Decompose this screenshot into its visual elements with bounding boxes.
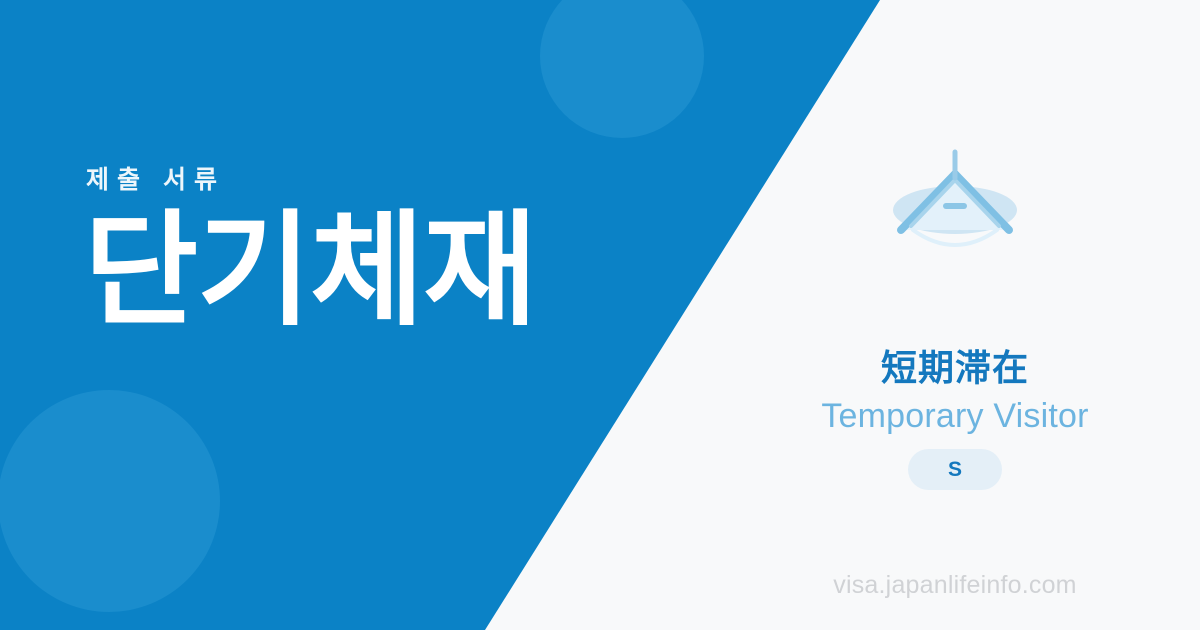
visa-name-japanese: 短期滞在 <box>881 350 1029 386</box>
status-badge: S <box>908 449 1002 490</box>
shrine-roof-icon <box>875 148 1035 252</box>
visa-info-card: 제출 서류 단기체재 短期滞在 Temporary Visitor S <box>0 0 1200 630</box>
page-title: 단기체재 <box>84 209 536 333</box>
left-text-block: 제출 서류 단기체재 <box>84 168 536 333</box>
site-url: visa.japanlifeinfo.com <box>760 571 1150 600</box>
document-kicker: 제출 서류 <box>86 168 536 193</box>
visa-name-english: Temporary Visitor <box>821 398 1088 435</box>
